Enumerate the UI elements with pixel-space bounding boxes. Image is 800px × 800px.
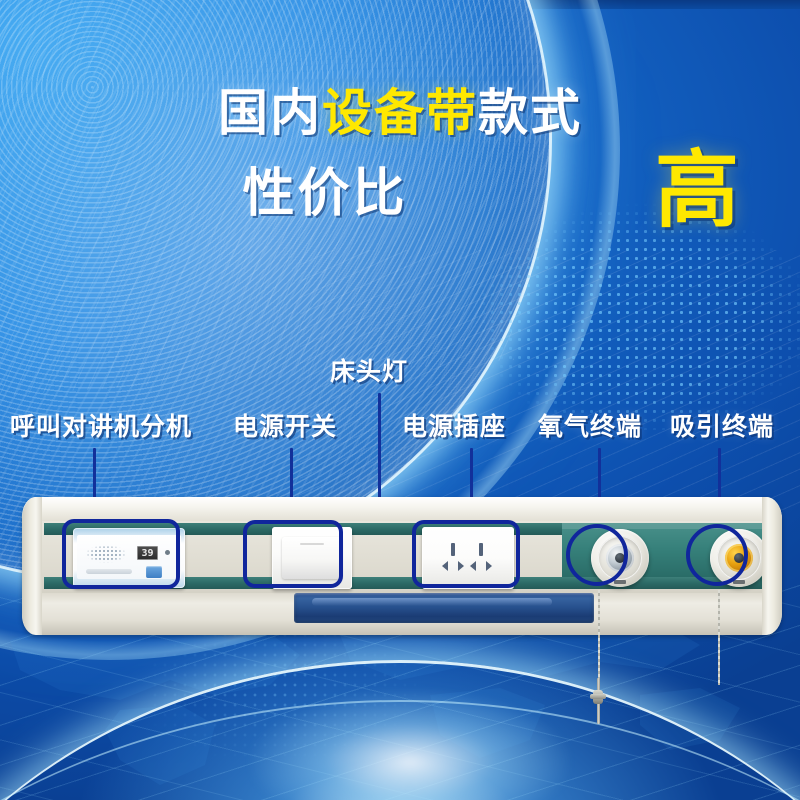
bedside-lamp-lens[interactable]: [294, 593, 594, 623]
promo-banner: 国内设备带款式 性价比 高 呼叫对讲机分机 电源开关 床头灯 电源插座 氧气终端…: [0, 0, 800, 800]
intercom-display: 39: [137, 546, 158, 560]
headline-seg-3: 款式: [478, 88, 582, 138]
suction-pin-icon: [734, 553, 744, 563]
power-switch-plate[interactable]: [272, 527, 352, 589]
suction-core: [725, 544, 753, 572]
callout-label-suction-terminal: 吸引终端: [670, 415, 774, 440]
suction-probe-fitting: [590, 678, 606, 724]
socket-pin-slot-left: [451, 543, 455, 556]
halftone-world-map: [470, 200, 800, 430]
panel-top-rail: [22, 497, 782, 521]
power-switch-rocker[interactable]: [282, 537, 342, 579]
oxygen-core: [606, 544, 634, 572]
headline-seg-1: 国内: [218, 88, 322, 138]
headline-line-1: 国内设备带款式: [0, 88, 800, 138]
status-led-icon: [165, 550, 170, 555]
socket-blade-3: [470, 561, 476, 571]
socket-pin-slot-right: [479, 543, 483, 556]
suction-terminal-outlet[interactable]: [710, 529, 768, 587]
panel-end-cap-left: [22, 497, 42, 635]
socket-blade-4: [486, 561, 492, 571]
callout-label-bedside-lamp: 床头灯: [330, 360, 408, 385]
socket-blade-1: [442, 561, 448, 571]
intercom-face: 39: [77, 535, 181, 579]
callout-label-power-switch: 电源开关: [233, 415, 337, 440]
oxygen-terminal-outlet[interactable]: [591, 529, 649, 587]
oxygen-label-tick: [614, 580, 626, 584]
horizon-flare: [250, 690, 570, 800]
headline-seg-2: 设备带: [322, 88, 478, 138]
suction-label-tick: [733, 580, 745, 584]
panel-body: 39: [22, 497, 782, 635]
oxygen-hanging-cord: [598, 590, 600, 682]
probe-crossbar: [590, 694, 606, 699]
panel-end-cap-right: [762, 497, 782, 635]
callout-label-oxygen-terminal: 氧气终端: [538, 415, 642, 440]
callout-label-power-socket: 电源插座: [402, 415, 506, 440]
socket-blade-2: [458, 561, 464, 571]
headline-emphasis-gao: 高: [655, 148, 739, 232]
oxygen-pin-icon: [615, 553, 625, 563]
suction-hanging-cord: [718, 590, 720, 685]
callout-label-call-intercom: 呼叫对讲机分机: [10, 415, 192, 440]
intercom-mic-slot: [86, 569, 132, 574]
call-intercom-unit[interactable]: 39: [73, 528, 185, 588]
intercom-call-button[interactable]: [146, 566, 162, 578]
speaker-grille-icon: [86, 545, 126, 563]
medical-bed-head-unit: 39: [22, 497, 782, 635]
power-socket-plate[interactable]: [422, 527, 514, 589]
